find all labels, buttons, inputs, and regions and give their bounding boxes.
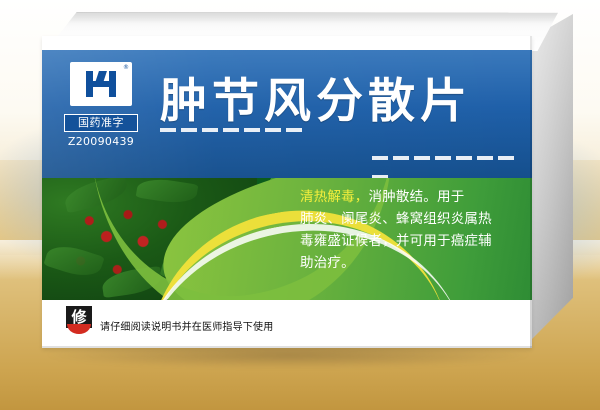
product-photo-scene: ® 国药准字 Z20090439 肿节风分散片 bbox=[0, 0, 600, 410]
company-h-logo-icon bbox=[84, 71, 118, 97]
approval-label: 国药准字 bbox=[64, 114, 138, 132]
indications-line-4: 助治疗。 bbox=[300, 255, 355, 271]
decor-dashes-left bbox=[160, 128, 307, 132]
header-white-margin bbox=[42, 36, 532, 50]
product-title: 肿节风分散片 bbox=[160, 76, 472, 128]
approval-number-block: 国药准字 Z20090439 bbox=[64, 114, 138, 148]
usage-warning-note: 请仔细阅读说明书并在医师指导下使用 bbox=[100, 318, 273, 333]
box-face-right-edge bbox=[530, 36, 532, 348]
indications-line-1-rest: 消肿散结。用于 bbox=[369, 189, 465, 205]
manufacturer-logo: 修 bbox=[66, 306, 92, 336]
package-footer: 修 请仔细阅读说明书并在医师指导下使用 bbox=[42, 300, 532, 348]
box-face-bottom-edge bbox=[42, 346, 532, 348]
indications-highlight: 清热解毒， bbox=[300, 189, 369, 205]
decor-dashes-right bbox=[372, 156, 532, 160]
box-front-face: ® 国药准字 Z20090439 肿节风分散片 bbox=[42, 36, 532, 348]
approval-code: Z20090439 bbox=[64, 135, 138, 148]
company-logo: ® bbox=[70, 62, 132, 106]
registered-mark-icon: ® bbox=[123, 64, 129, 71]
indications-line-2: 肺炎、阑尾炎、蜂窝组织炎属热 bbox=[300, 211, 492, 227]
manufacturer-swoosh-icon bbox=[67, 324, 91, 334]
medicine-box: ® 国药准字 Z20090439 肿节风分散片 bbox=[18, 12, 578, 380]
indications-text: 清热解毒，消肿散结。用于 肺炎、阑尾炎、蜂窝组织炎属热 毒雍盛证候者，并可用于癌… bbox=[300, 186, 515, 274]
box-side-shading bbox=[527, 14, 573, 344]
indications-line-3: 毒雍盛证候者，并可用于癌症辅 bbox=[300, 233, 492, 249]
